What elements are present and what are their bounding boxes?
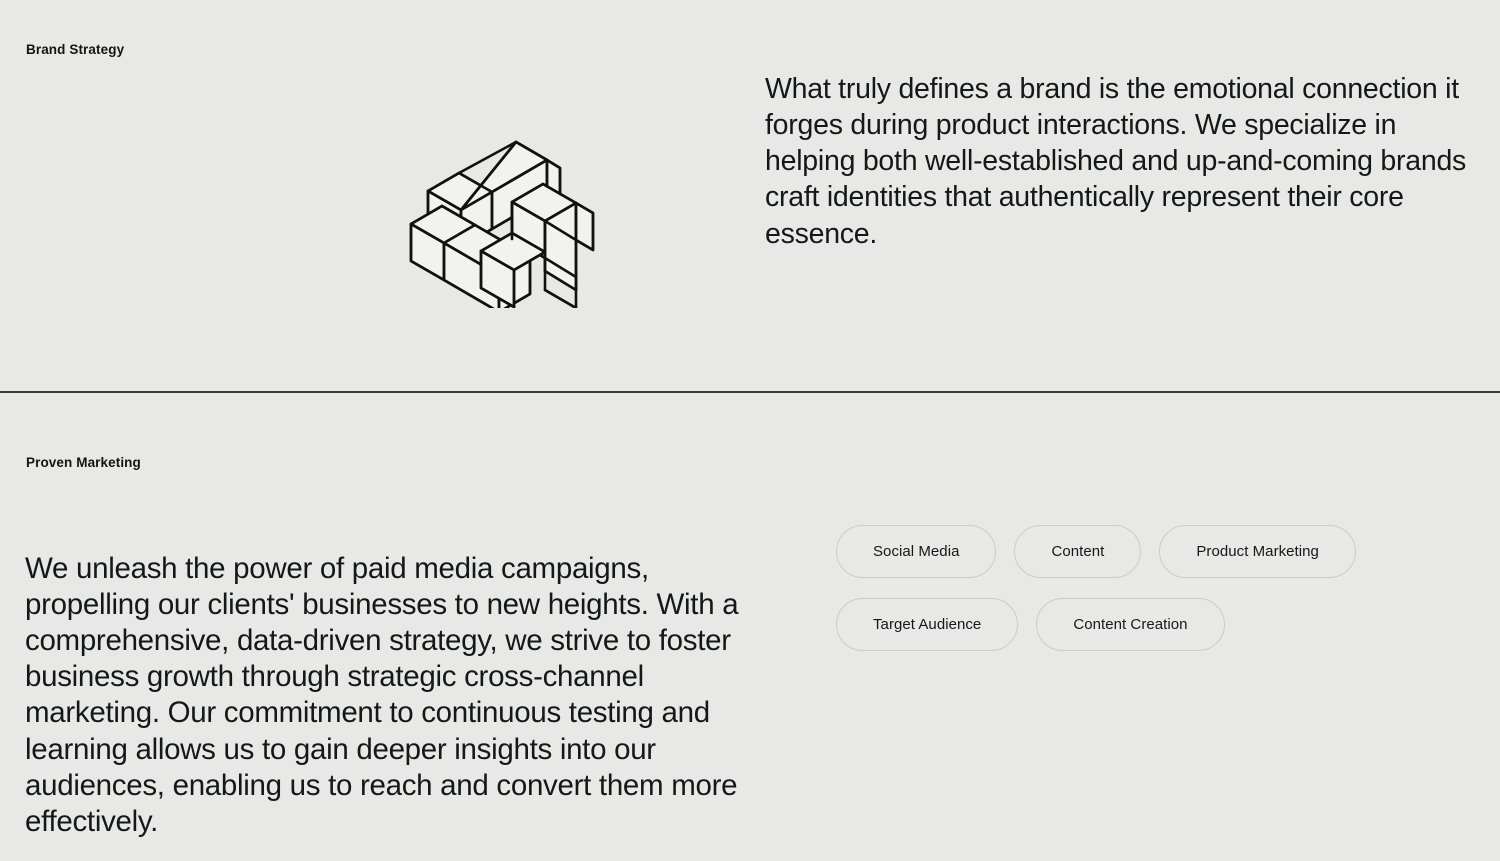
proven-marketing-paragraph: We unleash the power of paid media campa… — [25, 551, 747, 841]
section-eyebrow-proven-marketing: Proven Marketing — [26, 456, 141, 470]
page-root: Brand Strategy — [0, 0, 1500, 861]
section-proven-marketing: Proven Marketing We unleash the power of… — [0, 393, 1500, 861]
section-brand-strategy: Brand Strategy — [0, 0, 1500, 392]
tag-pill-product-marketing[interactable]: Product Marketing — [1159, 525, 1356, 578]
tag-pill-social-media[interactable]: Social Media — [836, 525, 996, 578]
section-eyebrow-brand-strategy: Brand Strategy — [26, 43, 124, 57]
marketing-tag-list: Social Media Content Product Marketing T… — [836, 525, 1396, 651]
isometric-knot-illustration — [397, 108, 609, 308]
tag-pill-content-creation[interactable]: Content Creation — [1036, 598, 1224, 651]
brand-strategy-paragraph: What truly defines a brand is the emotio… — [765, 71, 1477, 252]
tag-pill-content[interactable]: Content — [1014, 525, 1141, 578]
tag-pill-target-audience[interactable]: Target Audience — [836, 598, 1018, 651]
